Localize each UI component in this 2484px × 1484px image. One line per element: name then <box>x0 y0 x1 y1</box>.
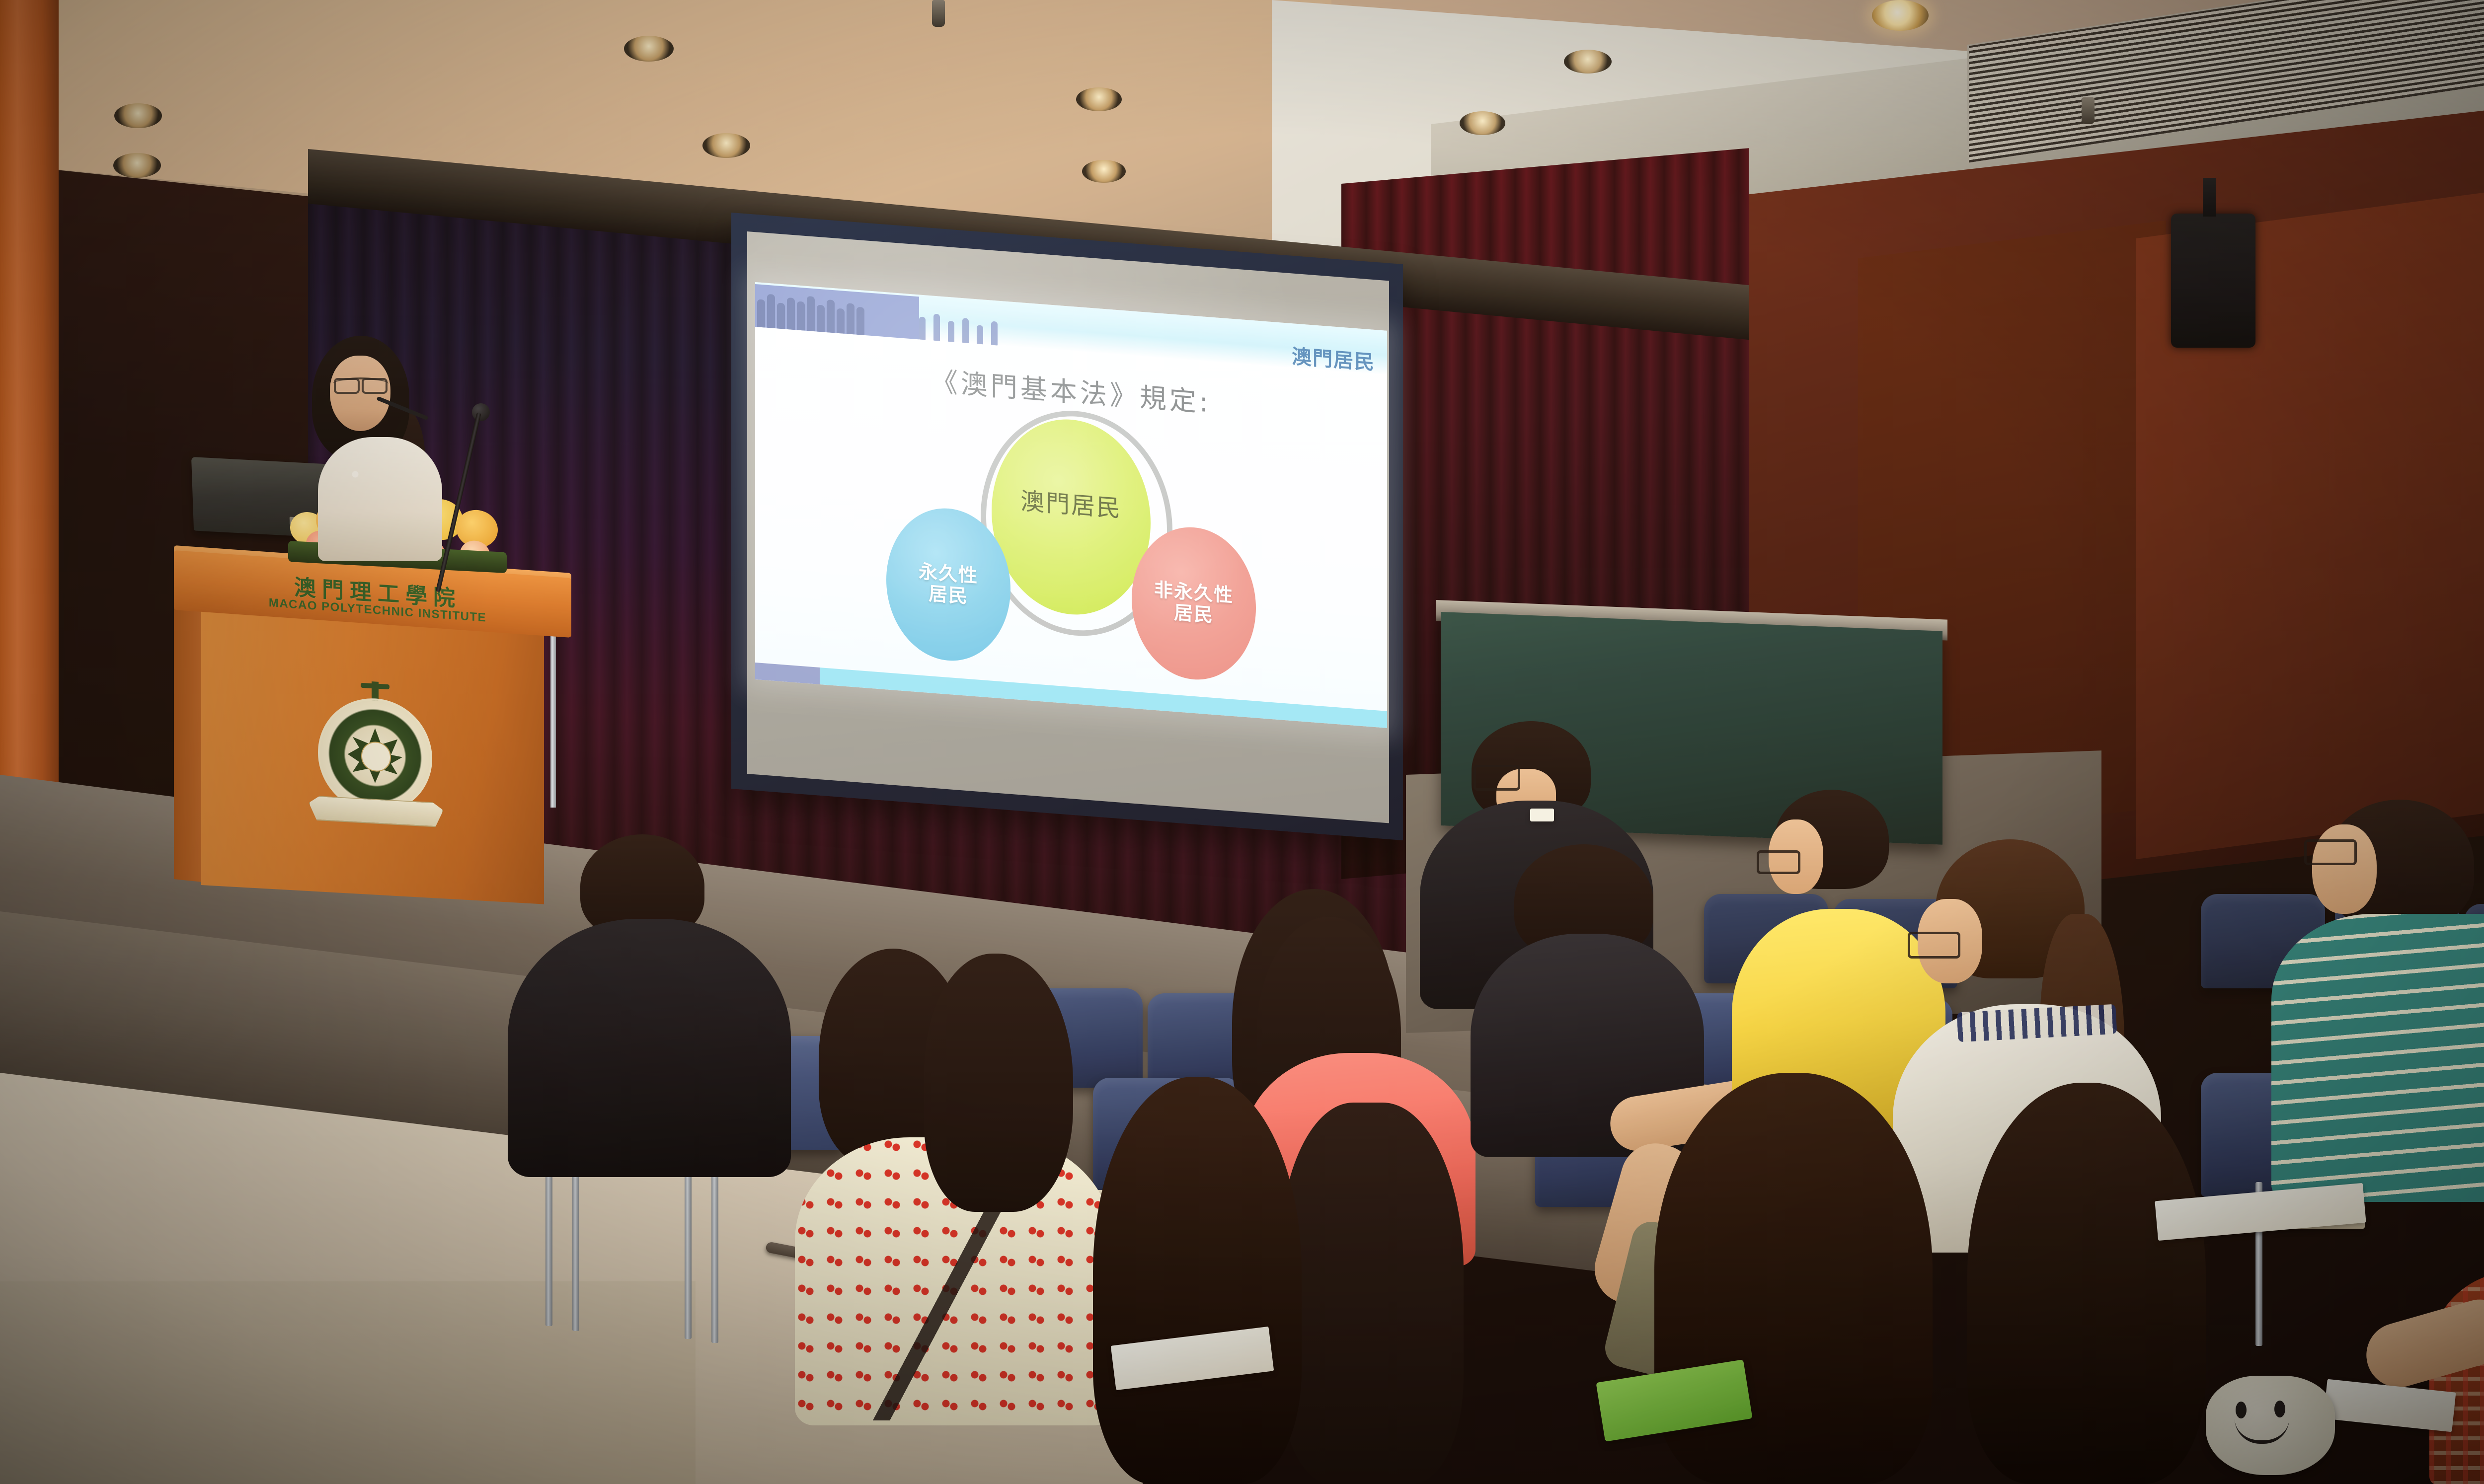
recessed-downlight-icon <box>1460 111 1505 135</box>
recessed-downlight-icon <box>113 153 161 178</box>
seat-leg <box>685 1150 692 1339</box>
recessed-downlight-icon <box>1872 0 1929 31</box>
presenter-torso <box>318 437 442 561</box>
microphone-icon <box>472 403 490 421</box>
slide-header-label: 澳門居民 <box>1292 340 1375 375</box>
sprinkler-head-icon <box>2082 97 2095 124</box>
seat-leg <box>711 1154 718 1343</box>
presentation-slide: 澳門居民 《澳門基本法》規定: 澳門居民 永久性 居民 非永久性 居民 <box>755 282 1387 728</box>
recessed-downlight-icon <box>1564 50 1612 74</box>
recessed-downlight-icon <box>702 133 750 158</box>
recessed-downlight-icon <box>624 36 674 62</box>
column-orange <box>0 0 59 874</box>
recessed-downlight-icon <box>1082 160 1126 183</box>
venn-diagram: 澳門居民 永久性 居民 非永久性 居民 <box>755 379 1387 706</box>
recessed-downlight-icon <box>1076 87 1122 111</box>
venn-circle-right: 非永久性 居民 <box>1132 522 1256 684</box>
venn-circle-main-label: 澳門居民 <box>1020 488 1122 522</box>
ceiling-speaker-icon <box>2171 214 2255 348</box>
venn-circle-right-label: 非永久性 居民 <box>1154 579 1234 627</box>
smiley-eye <box>2274 1401 2285 1417</box>
glasses-icon <box>1757 850 1800 874</box>
smiley-eye <box>2236 1402 2247 1418</box>
venn-circle-left-label: 永久性 居民 <box>919 561 978 608</box>
audience-striped-polo <box>2271 914 2484 1202</box>
auditorium-photograph: 澳門居民 《澳門基本法》規定: 澳門居民 永久性 居民 非永久性 居民 <box>0 0 2484 1484</box>
presenter-glasses-icon <box>333 377 388 390</box>
recessed-downlight-icon <box>114 103 162 128</box>
auditorium-floor-lower <box>0 1281 696 1484</box>
sprinkler-head-icon <box>932 0 945 27</box>
glasses-icon <box>2304 839 2357 865</box>
glasses-icon <box>1474 765 1520 791</box>
institution-crest-icon <box>318 695 432 816</box>
glasses-icon <box>1908 932 1960 959</box>
